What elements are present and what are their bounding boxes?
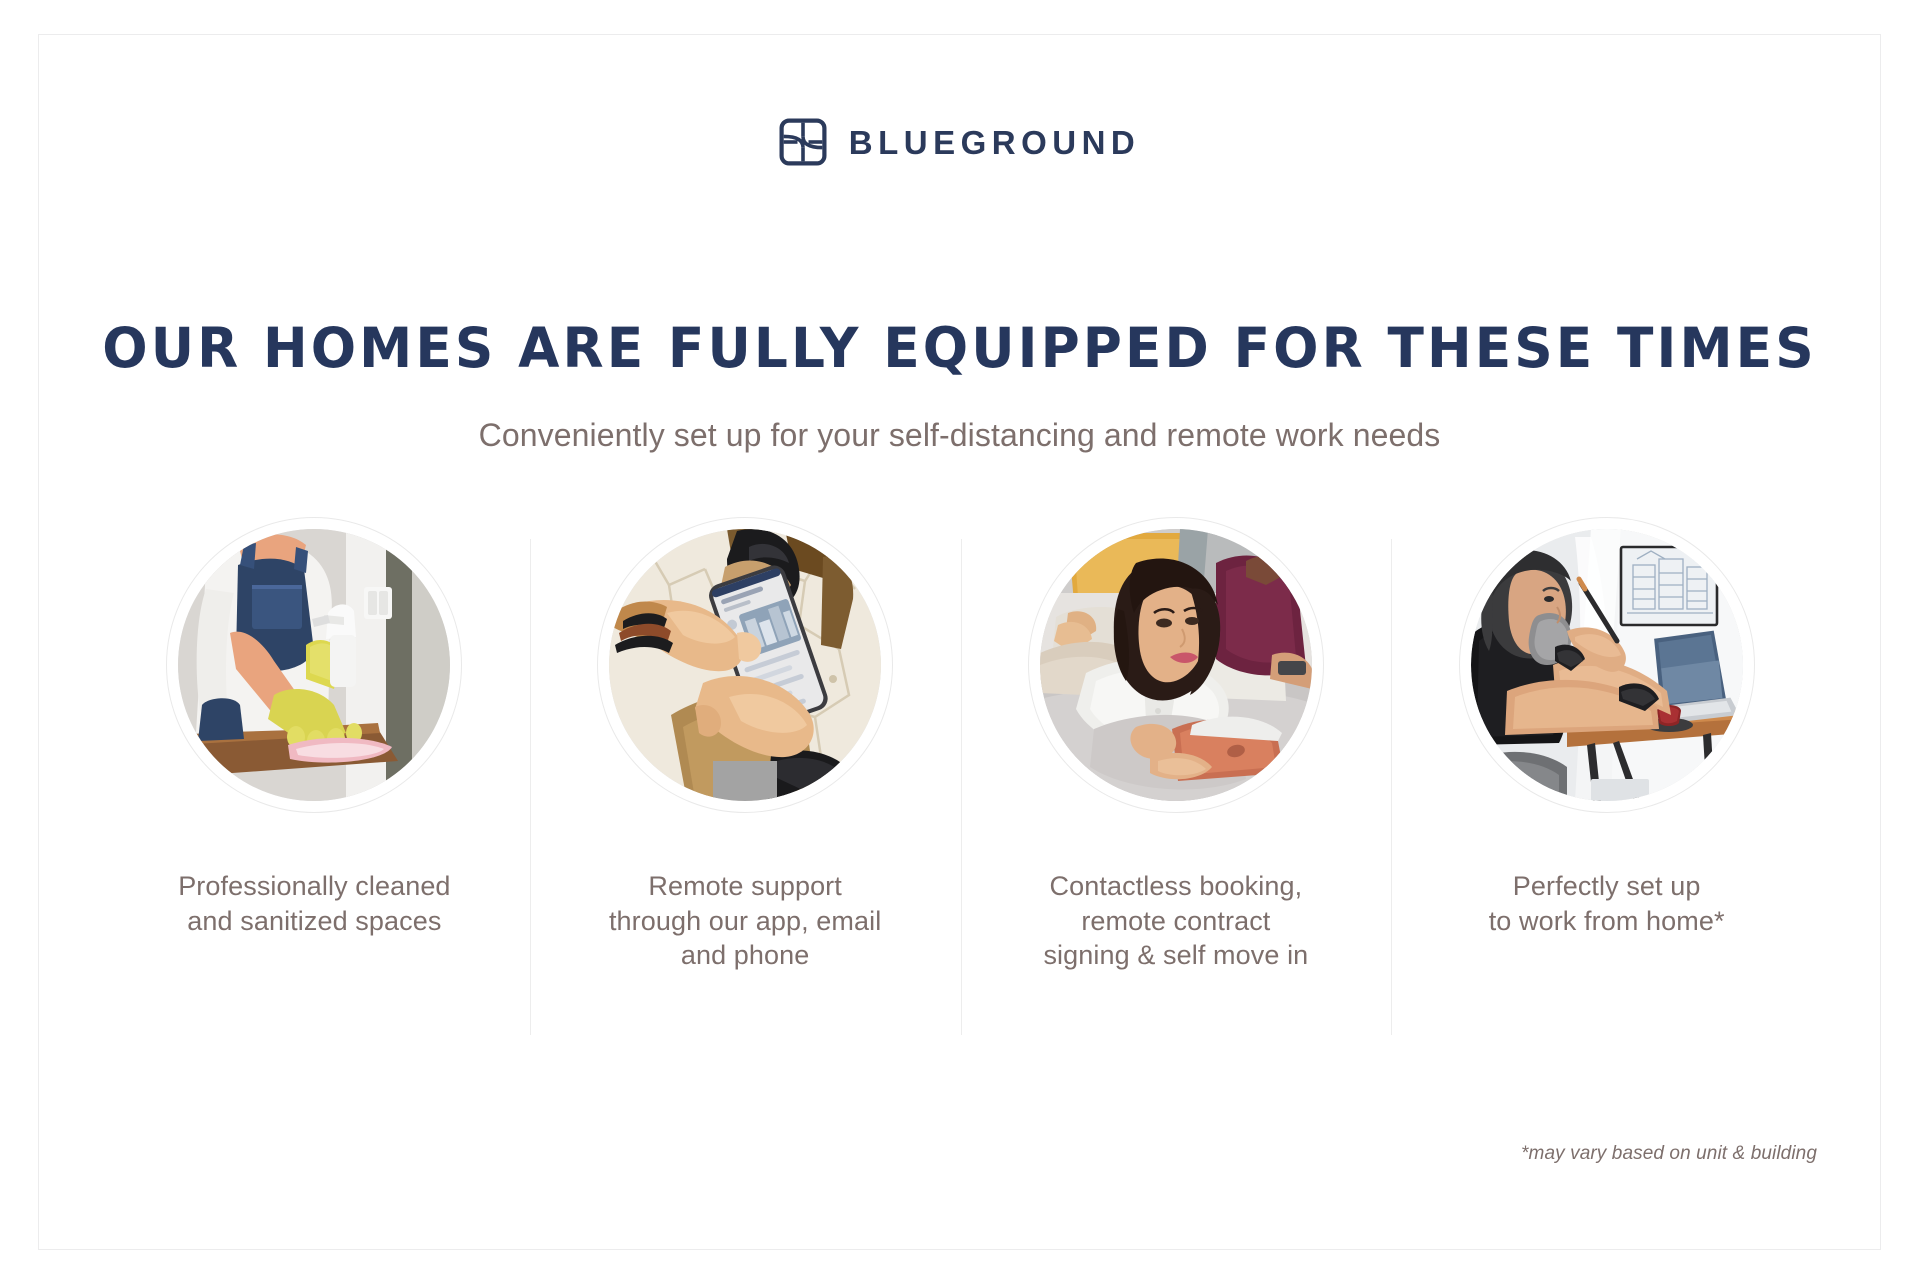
feature-caption: Remote support through our app, email an… — [609, 869, 881, 973]
feature-caption: Perfectly set up to work from home* — [1489, 869, 1725, 938]
brand-lockup: BLUEGROUND — [39, 118, 1880, 166]
feature-card-remote-support: Remote support through our app, email an… — [530, 517, 961, 973]
cleaner-wiping-counter-photo — [178, 529, 450, 801]
feature-card-contactless-booking: Contactless booking, remote contract sig… — [961, 517, 1392, 973]
man-working-at-desk-laptop-photo — [1471, 529, 1743, 801]
feature-cards: Professionally cleaned and sanitized spa… — [99, 517, 1822, 973]
page-subtitle: Conveniently set up for your self-distan… — [39, 415, 1880, 457]
poster-frame: BLUEGROUND OUR HOMES ARE FULLY EQUIPPED … — [38, 34, 1881, 1250]
woman-on-bed-with-tablet-photo — [1040, 529, 1312, 801]
feature-caption: Contactless booking, remote contract sig… — [1043, 869, 1308, 973]
photo-ring — [597, 517, 893, 813]
photo-ring — [1459, 517, 1755, 813]
photo-ring — [166, 517, 462, 813]
brand-wordmark: BLUEGROUND — [849, 126, 1141, 159]
feature-caption: Professionally cleaned and sanitized spa… — [178, 869, 450, 938]
feature-card-work-from-home: Perfectly set up to work from home* — [1391, 517, 1822, 938]
blueground-logo-icon — [779, 118, 827, 166]
photo-ring — [1028, 517, 1324, 813]
page-title: OUR HOMES ARE FULLY EQUIPPED FOR THESE T… — [67, 320, 1853, 378]
hands-using-phone-app-photo — [609, 529, 881, 801]
feature-card-cleaning: Professionally cleaned and sanitized spa… — [99, 517, 530, 938]
footnote-disclaimer: *may vary based on unit & building — [1521, 1143, 1817, 1165]
